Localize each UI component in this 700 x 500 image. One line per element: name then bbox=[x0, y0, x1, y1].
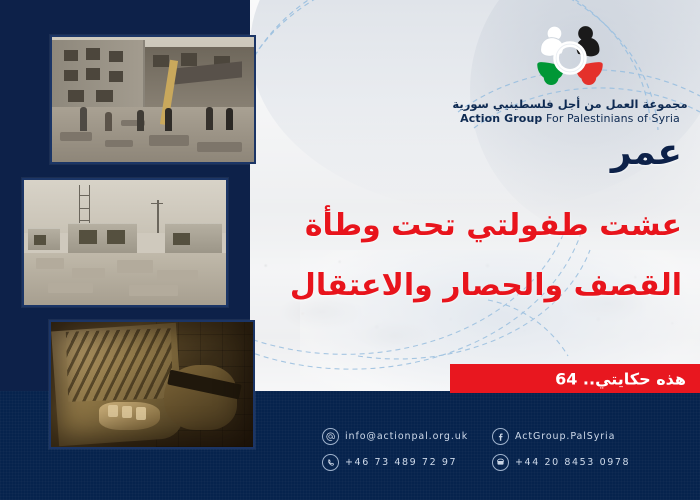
poster-canvas: مجموعة العمل من أجل فلسطينيي سورية Actio… bbox=[0, 0, 700, 500]
action-group-circle-logo-icon bbox=[528, 22, 612, 94]
footer-facebook-text: ActGroup.PalSyria bbox=[515, 431, 615, 442]
facebook-icon bbox=[492, 428, 509, 445]
footer-contact-row-2: +46 73 489 72 97 +44 20 8453 0978 bbox=[322, 454, 692, 471]
logo-english-name-bold: Action Group bbox=[460, 112, 542, 125]
headline-line-2: القصف والحصار والاعتقال bbox=[240, 268, 682, 303]
footer-contacts: info@actionpal.org.uk ActGroup.PalSyria bbox=[322, 428, 692, 480]
photo-blindfolded-detainee bbox=[49, 320, 255, 449]
person-name-heading: عمر bbox=[0, 132, 682, 173]
footer-facebook[interactable]: ActGroup.PalSyria bbox=[492, 428, 662, 445]
footer-email[interactable]: info@actionpal.org.uk bbox=[322, 428, 492, 445]
logo-block: مجموعة العمل من أجل فلسطينيي سورية Actio… bbox=[452, 22, 688, 125]
story-banner-label: هذه حكايتي.. 64 bbox=[555, 369, 686, 388]
footer-phone-text: +44 20 8453 0978 bbox=[515, 457, 630, 468]
at-sign-icon bbox=[322, 428, 339, 445]
headline-line-1: عشت طفولتي تحت وطأة bbox=[240, 208, 682, 243]
photo-destroyed-buildings bbox=[22, 178, 228, 307]
logo-english-name: Action Group For Palestinians of Syria bbox=[452, 112, 688, 125]
footer-phone[interactable]: +44 20 8453 0978 bbox=[492, 454, 662, 471]
telephone-icon bbox=[492, 454, 509, 471]
whatsapp-icon bbox=[322, 454, 339, 471]
footer-contact-row-1: info@actionpal.org.uk ActGroup.PalSyria bbox=[322, 428, 692, 445]
logo-english-name-rest: For Palestinians of Syria bbox=[542, 112, 679, 125]
story-banner: هذه حكايتي.. 64 bbox=[450, 364, 700, 393]
footer-email-text: info@actionpal.org.uk bbox=[345, 431, 468, 442]
footer-whatsapp[interactable]: +46 73 489 72 97 bbox=[322, 454, 492, 471]
photo-blindfolded-detainee-image bbox=[51, 322, 253, 447]
footer-whatsapp-text: +46 73 489 72 97 bbox=[345, 457, 457, 468]
photo-destroyed-buildings-image bbox=[24, 180, 226, 305]
logo-arabic-name: مجموعة العمل من أجل فلسطينيي سورية bbox=[452, 97, 688, 111]
